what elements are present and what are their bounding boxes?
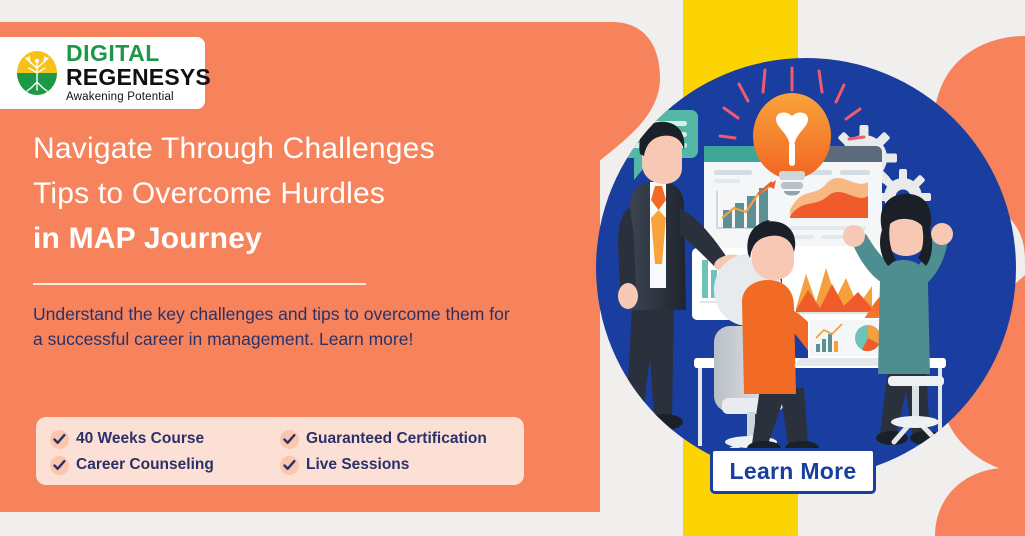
feature-item: Guaranteed Certification — [280, 426, 524, 452]
feature-item: 40 Weeks Course — [50, 426, 280, 452]
headline: Navigate Through Challenges Tips to Over… — [33, 126, 593, 261]
check-icon — [50, 430, 69, 449]
blue-circle-backdrop — [596, 58, 1016, 478]
headline-line-1: Navigate Through Challenges — [33, 126, 593, 171]
headline-line-2: Tips to Overcome Hurdles — [33, 171, 593, 216]
brand-logo[interactable]: DIGITAL REGENESYS Awakening Potential — [0, 37, 205, 109]
logo-line-regenesys: REGENESYS — [66, 66, 211, 89]
logo-line-digital: DIGITAL — [66, 42, 211, 65]
headline-line-3: in MAP Journey — [33, 216, 593, 261]
check-icon — [50, 456, 69, 475]
tree-roots-icon — [16, 50, 58, 96]
promotional-banner: DIGITAL REGENESYS Awakening Potential Na… — [0, 0, 1025, 536]
feature-label: Live Sessions — [306, 456, 409, 474]
features-box: 40 Weeks Course Guaranteed Certification… — [36, 417, 524, 485]
feature-label: 40 Weeks Course — [76, 430, 204, 448]
check-icon — [280, 456, 299, 475]
feature-label: Career Counseling — [76, 456, 214, 474]
description-paragraph: Understand the key challenges and tips t… — [33, 302, 521, 352]
logo-tagline: Awakening Potential — [66, 92, 211, 104]
feature-label: Guaranteed Certification — [306, 430, 487, 448]
feature-item: Career Counseling — [50, 452, 280, 478]
learn-more-button[interactable]: Learn More — [710, 448, 876, 494]
check-icon — [280, 430, 299, 449]
feature-item: Live Sessions — [280, 452, 524, 478]
divider — [33, 283, 366, 285]
